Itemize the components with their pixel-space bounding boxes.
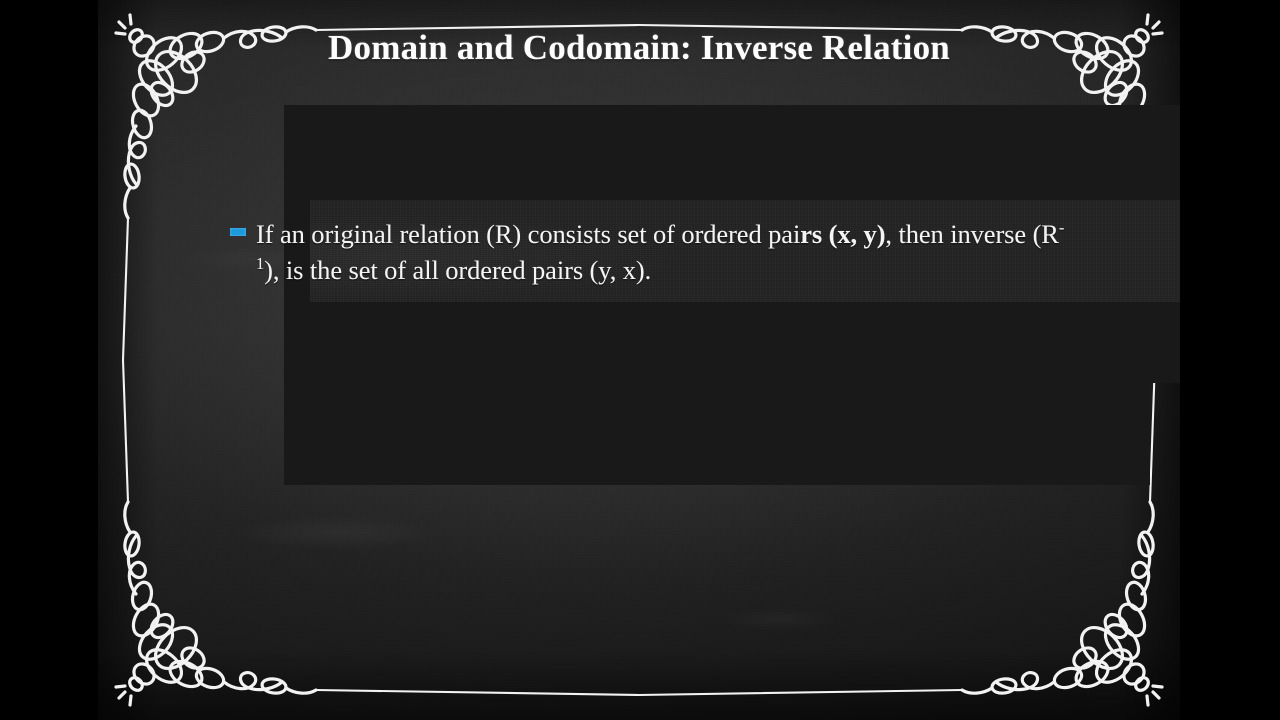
slide-title: Domain and Codomain: Inverse Relation (98, 28, 1180, 68)
slide-stage: Domain and Codomain: Inverse Relation If… (0, 0, 1280, 720)
letterbox-bar-left (0, 0, 98, 720)
content-overlay-block-lower (284, 372, 1150, 485)
square-bullet-icon (230, 228, 246, 236)
body-text-segment-2: rs (x, y) (800, 219, 885, 249)
body-text-segment-5: ), is the set of all ordered pairs (y, x… (264, 255, 651, 285)
body-text-segment-1: If an original relation (R) consists set… (256, 219, 800, 249)
letterbox-bar-right (1180, 0, 1280, 720)
bullet-list-item: If an original relation (R) consists set… (230, 216, 1080, 288)
body-text-segment-3: , then (885, 219, 943, 249)
body-text-segment-4: inverse (R (950, 219, 1059, 249)
body-text: If an original relation (R) consists set… (256, 216, 1080, 288)
chalkboard-slide (98, 0, 1180, 720)
